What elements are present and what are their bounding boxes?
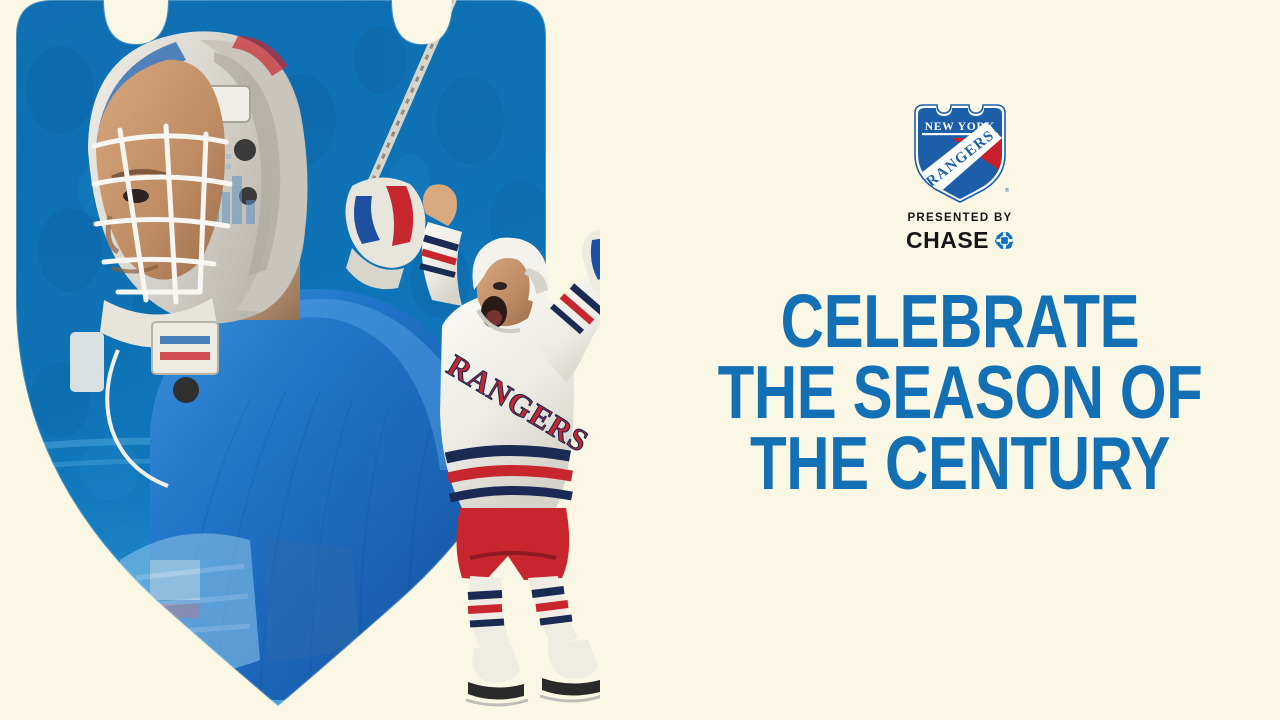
headline-line-1: CELEBRATE: [704, 286, 1216, 357]
goalie-pads: [120, 533, 360, 675]
headline-block: CELEBRATE THE SEASON OF THE CENTURY: [640, 286, 1280, 499]
promo-graphic-root: RANGERS: [0, 0, 1280, 720]
chase-wordmark: CHASE: [906, 229, 989, 252]
sponsor-lockup: PRESENTED BY CHASE: [906, 213, 1014, 252]
celebrating-player: RANGERS: [420, 184, 600, 705]
chase-octagon-icon: [995, 231, 1014, 250]
chase-lockup: CHASE: [906, 229, 1014, 252]
headline-line-2: THE SEASON OF: [704, 357, 1216, 428]
player-legs: [468, 576, 578, 652]
presented-by-label: PRESENTED BY: [907, 213, 1012, 225]
registered-trademark-mark: ®: [1005, 187, 1009, 194]
headline-line-3: THE CENTURY: [704, 428, 1216, 499]
rangers-shield-logo: NEW YORK RANGERS ®: [908, 100, 1012, 204]
right-content-panel: NEW YORK RANGERS ® PRESENTED BY CHASE: [640, 0, 1280, 720]
player-skates: [466, 640, 600, 705]
shield-artwork: RANGERS: [0, 0, 600, 720]
brand-block: NEW YORK RANGERS ® PRESENTED BY CHASE: [640, 100, 1280, 252]
